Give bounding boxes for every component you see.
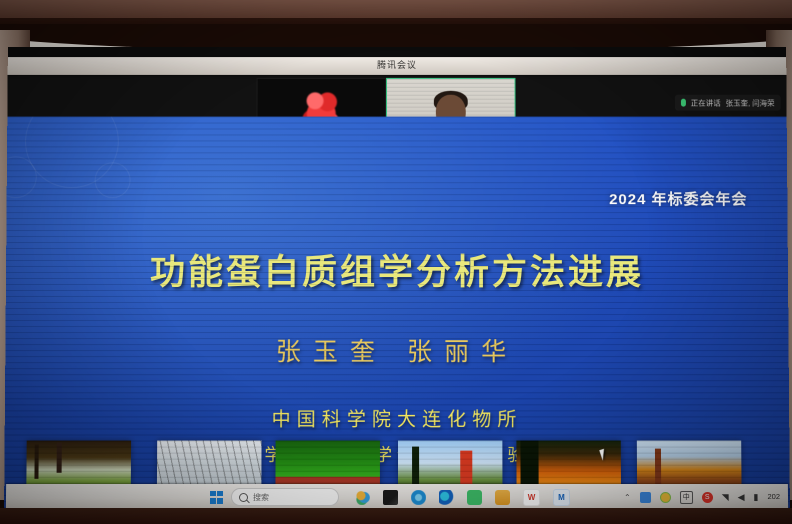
conference-room-photo: 腾讯会议 闫海荣 张玉奎 [0,0,792,524]
mail-tray-icon[interactable] [640,492,651,503]
start-button[interactable] [210,491,223,504]
slide-authors: 张玉奎 张丽华 [5,332,789,368]
presentation-slide[interactable]: 2024 年标委会年会 功能蛋白质组学分析方法进展 张玉奎 张丽华 中国科学院大… [4,117,790,510]
search-icon [239,493,248,502]
microphone-active-icon [681,99,686,107]
status-tray-icon[interactable] [660,492,671,503]
speaking-indicator: 正在讲话 张玉奎, 闫海荣 [675,95,781,111]
taskbar-item-wps-office[interactable]: W [523,489,540,506]
search-placeholder: 搜索 [253,492,269,503]
taskbar-item-meeting-app[interactable]: M [553,489,570,506]
ime-icon[interactable]: 中 [680,491,693,504]
taskbar-item-internet-explorer[interactable] [411,490,426,505]
slide-affiliation-line1: 中国科学院大连化物所 [5,404,790,431]
chevron-up-icon[interactable]: ⌃ [624,493,631,502]
decorative-circle [95,162,131,198]
slide-title: 功能蛋白质组学分析方法进展 [6,244,788,295]
speaking-names: 张玉奎, 闫海荣 [726,97,775,108]
taskbar-item-task-view[interactable] [355,490,370,505]
taskbar-item-wechat[interactable] [467,490,482,505]
sogou-input-icon[interactable]: S [702,492,713,503]
battery-icon[interactable]: ▮ [753,492,758,503]
taskbar-item-file-explorer[interactable] [383,490,398,505]
wifi-icon[interactable]: ◥ [722,492,729,503]
projected-desktop: 腾讯会议 闫海荣 张玉奎 [4,47,790,509]
speaking-label: 正在讲话 [691,97,721,108]
taskbar-item-microsoft-edge[interactable] [439,490,454,505]
meeting-app-title: 腾讯会议 [8,58,787,71]
floor [0,508,792,524]
search-input[interactable]: 搜索 [231,488,339,506]
volume-icon[interactable]: ◀ [738,492,745,503]
taskbar-item-folder[interactable] [495,490,510,505]
clock[interactable]: 202 [767,493,780,501]
slide-kicker: 2024 年标委会年会 [609,188,747,209]
windows-taskbar[interactable]: 搜索 W M ⌃ 中 S ◥ ◀ ▮ 202 [6,484,788,510]
